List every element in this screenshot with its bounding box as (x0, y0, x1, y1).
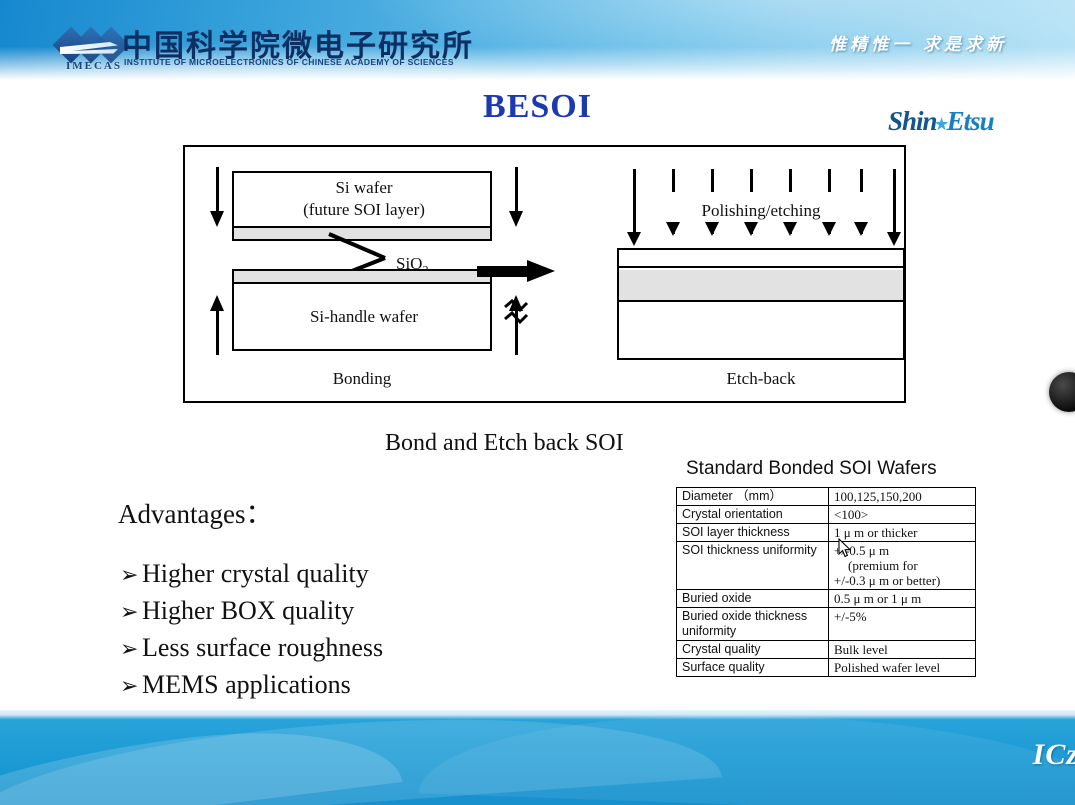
table-row: Surface quality Polished wafer level (677, 659, 976, 677)
table-row: Buried oxide 0.5 μ m or 1 μ m (677, 590, 976, 608)
list-item-label: Less surface roughness (142, 633, 383, 662)
table-title: Standard Bonded SOI Wafers (686, 458, 937, 480)
bullet-arrow-icon: ➢ (120, 557, 142, 593)
process-diagram: Si wafer (future SOI layer) SiO2 Si-hand… (183, 145, 906, 403)
table-row: SOI layer thickness 1 μ m or thicker (677, 524, 976, 542)
buried-oxide-layer (619, 270, 903, 302)
footer-text: ICz (1033, 738, 1075, 772)
table-cell-key: Diameter （mm） (677, 488, 829, 506)
header-motto: 惟精惟一 求是求新 (829, 30, 1007, 55)
etch-back-stage-label: Etch-back (617, 369, 905, 389)
table-cell-value: Polished wafer level (829, 659, 976, 677)
table-cell-key: Buried oxide thickness uniformity (677, 608, 829, 641)
bond-wave-icon (503, 299, 529, 333)
list-item: ➢Higher BOX quality (120, 593, 550, 630)
table-cell-value: 100,125,150,200 (829, 488, 976, 506)
table-cell-value: +/-5% (829, 608, 976, 641)
list-item-label: Higher BOX quality (142, 596, 354, 625)
advantages-heading: Advantages： (118, 492, 272, 531)
table-cell-key: Crystal quality (677, 641, 829, 659)
table-cell-key: SOI thickness uniformity (677, 542, 829, 590)
page-footer: ICz (0, 710, 1075, 805)
table-row: Buried oxide thickness uniformity +/-5% (677, 608, 976, 641)
bonding-stage-label: Bonding (232, 369, 492, 389)
si-handle-oxide-layer (234, 271, 490, 284)
mouse-cursor-icon (838, 538, 852, 558)
bullet-arrow-icon: ➢ (120, 594, 142, 630)
table-cell-key: Buried oxide (677, 590, 829, 608)
soi-wafer-spec-table: Diameter （mm） 100,125,150,200 Crystal or… (676, 487, 976, 677)
bullet-arrow-icon: ➢ (120, 631, 142, 667)
table-cell-key: Crystal orientation (677, 506, 829, 524)
table-cell-value: 0.5 μ m or 1 μ m (829, 590, 976, 608)
list-item-label: MEMS applications (142, 670, 351, 699)
list-item-label: Higher crystal quality (142, 559, 369, 588)
table-row: Diameter （mm） 100,125,150,200 (677, 488, 976, 506)
list-item: ➢Higher crystal quality (120, 556, 550, 593)
page-header: IMECAS 中国科学院微电子研究所 INSTITUTE OF MICROELE… (0, 0, 1075, 80)
si-handle-wafer-block: Si-handle wafer (232, 269, 492, 351)
si-wafer-label-line1: Si wafer (234, 178, 494, 198)
table-cell-value-line3: +/-0.3 μ m or better) (834, 573, 940, 588)
edge-round-control[interactable] (1049, 372, 1075, 412)
table-cell-value-line2: (premium for (834, 558, 970, 573)
bullet-arrow-icon: ➢ (120, 668, 142, 704)
soi-stack-block (617, 248, 905, 360)
table-row: Crystal orientation <100> (677, 506, 976, 524)
shinetsu-logo-part-b: Etsu (947, 106, 994, 136)
list-item: ➢Less surface roughness (120, 630, 550, 667)
soi-layer (619, 250, 903, 268)
si-handle-wafer-label: Si-handle wafer (234, 307, 494, 327)
advantages-list: ➢Higher crystal quality ➢Higher BOX qual… (120, 556, 550, 704)
process-flow-arrow-icon (477, 260, 555, 282)
polishing-etching-label: Polishing/etching (617, 201, 905, 221)
si-wafer-block: Si wafer (future SOI layer) (232, 171, 492, 241)
bond-pressure-arrow-up-left (210, 275, 224, 355)
table-cell-value: <100> (829, 506, 976, 524)
table-row: SOI thickness uniformity +/-0.5 μ m (pre… (677, 542, 976, 590)
org-name-en: INSTITUTE OF MICROELECTRONICS OF CHINESE… (124, 57, 454, 67)
table-cell-key: SOI layer thickness (677, 524, 829, 542)
figure-caption: Bond and Etch back SOI (385, 430, 624, 457)
shinetsu-logo: ShinEtsu (888, 104, 1036, 138)
table-cell-key: Surface quality (677, 659, 829, 677)
shinetsu-logo-part-a: Shin (888, 106, 937, 136)
si-wafer-label-line2: (future SOI layer) (234, 200, 494, 220)
table-cell-value: Bulk level (829, 641, 976, 659)
table-row: Crystal quality Bulk level (677, 641, 976, 659)
list-item: ➢MEMS applications (120, 667, 550, 704)
